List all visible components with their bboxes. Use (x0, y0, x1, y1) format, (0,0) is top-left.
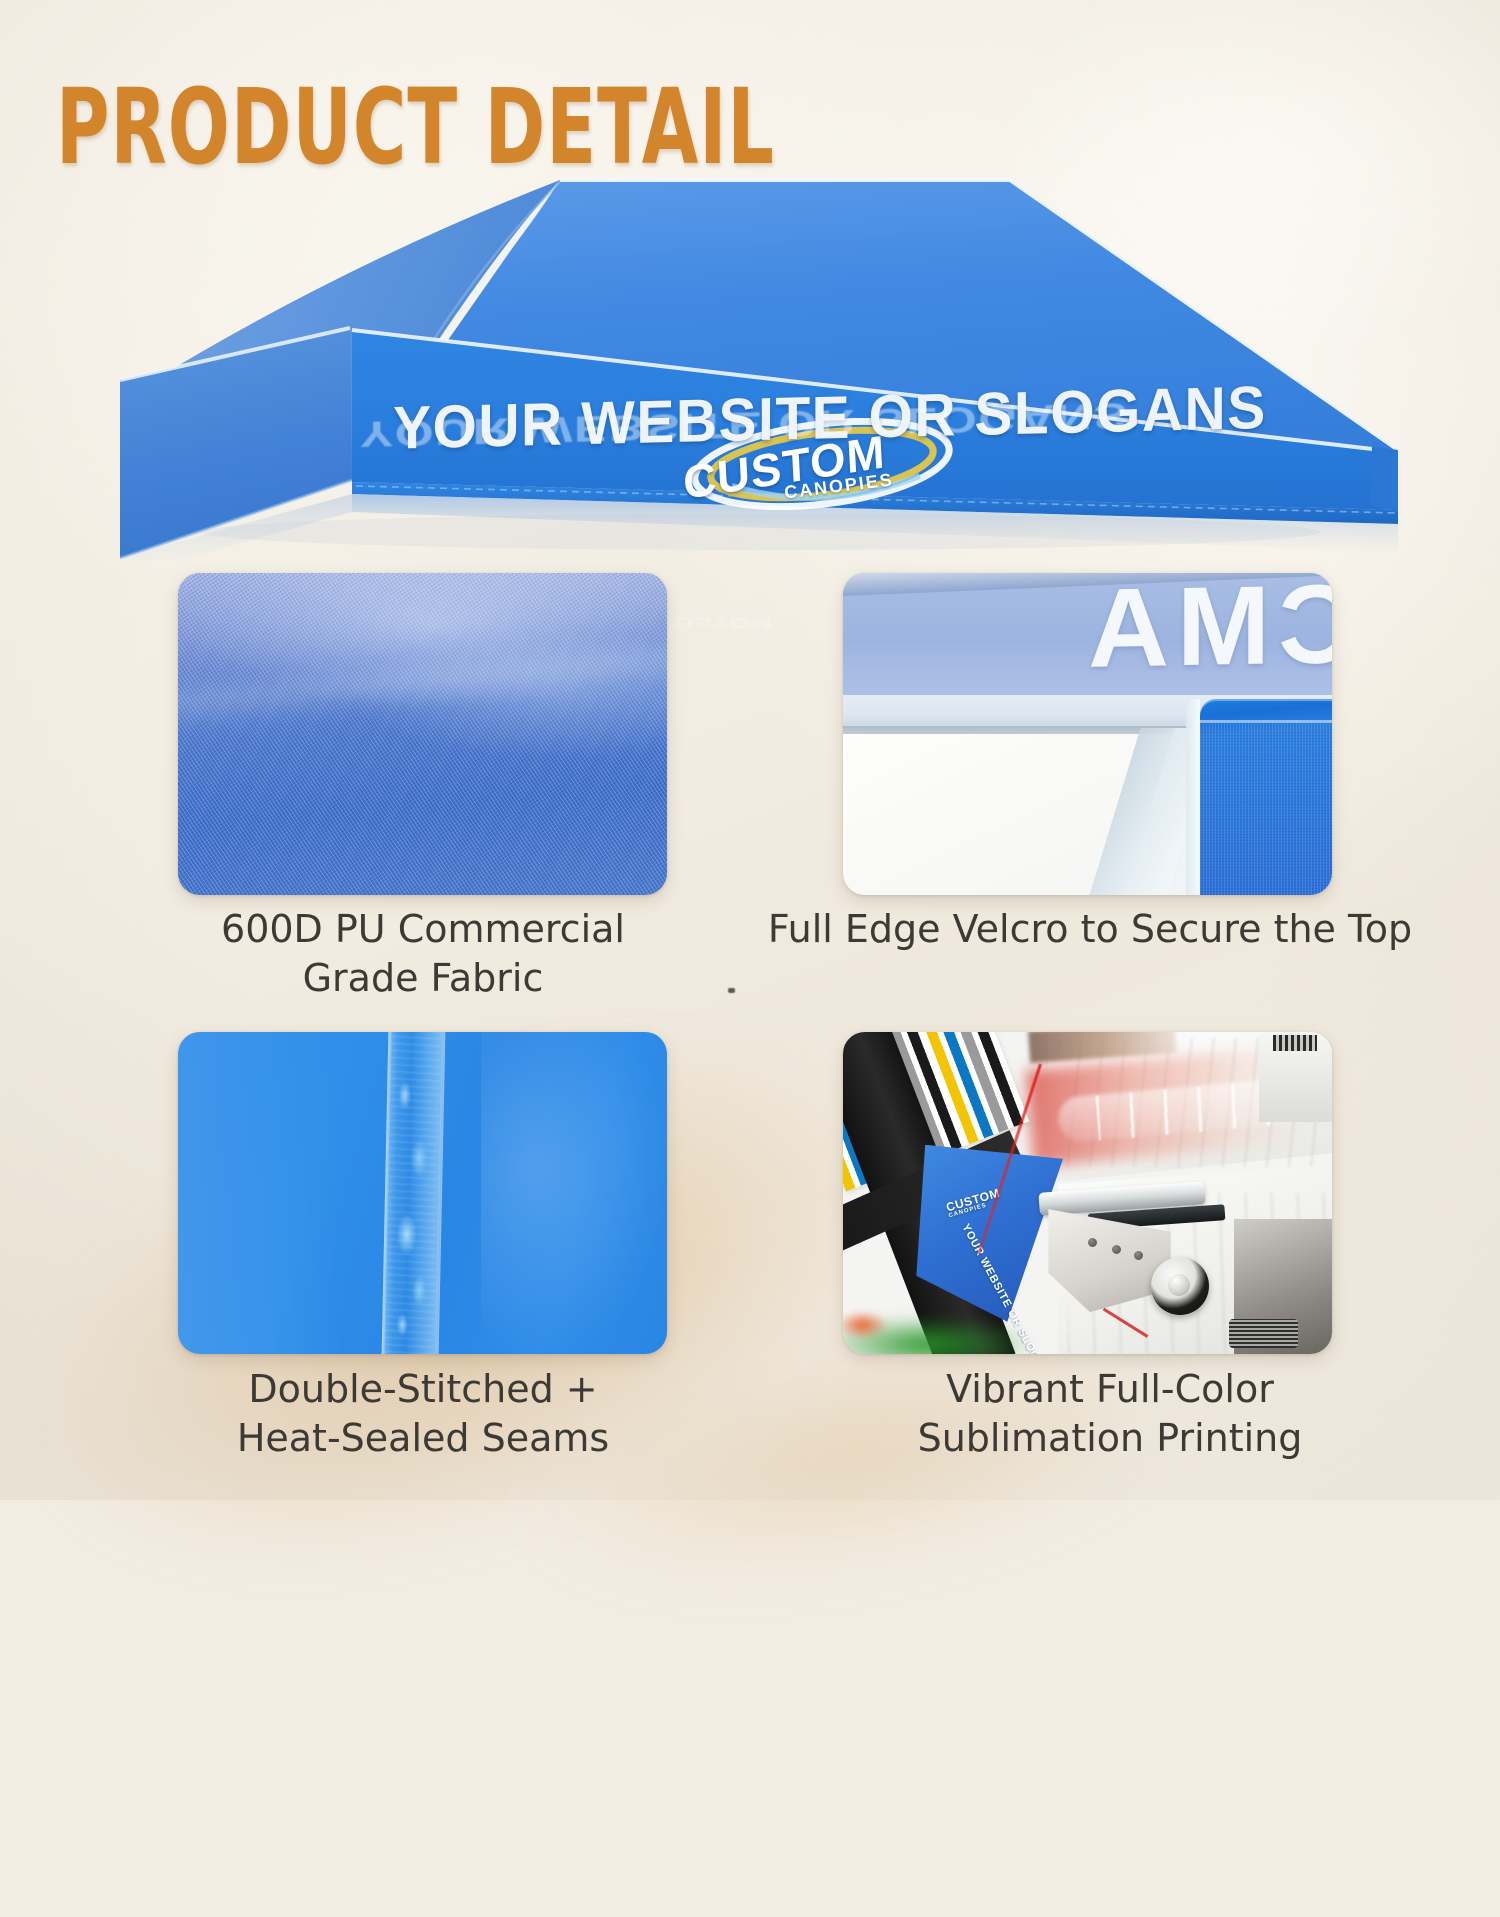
velcro-tab-texture (1200, 723, 1332, 895)
printer-orange-ink-blur (843, 1309, 892, 1341)
feature-image-velcro[interactable]: CMA (843, 573, 1332, 895)
printer-control-chip (1273, 1035, 1317, 1051)
feature-image-seams[interactable] (178, 1032, 667, 1354)
feature-caption-fabric: 600D PU Commercial Grade Fabric (128, 905, 718, 1004)
feature-caption-fabric-line1: 600D PU Commercial (128, 905, 718, 954)
feature-caption-printing-line2: Sublimation Printing (810, 1414, 1410, 1463)
feature-caption-printing-line1: Vibrant Full-Color (810, 1365, 1410, 1414)
velcro-tab-edge (1186, 699, 1200, 895)
fabric-sheen (178, 573, 667, 895)
feature-image-fabric[interactable] (178, 573, 667, 895)
feature-image-printing[interactable]: CUSTOM CANOPIES YOUR WEBSITE OR SLOG (843, 1032, 1332, 1354)
printer-bolt-2 (1112, 1245, 1121, 1254)
printer-bolt-1 (1088, 1238, 1097, 1247)
velcro-tab-stitch (1200, 720, 1332, 723)
feature-caption-seams-line2: Heat-Sealed Seams (128, 1414, 718, 1463)
feature-grid: 600D PU Commercial Grade Fabric CMA Full… (0, 0, 1500, 1500)
printer-bolt-3 (1134, 1251, 1143, 1260)
printer-wheel-hub (1168, 1274, 1190, 1296)
feature-caption-seams: Double-Stitched + Heat-Sealed Seams (128, 1365, 718, 1464)
velcro-mirrored-lettering: CMA (843, 573, 1332, 697)
seam-left-sheen (178, 1032, 383, 1354)
feature-caption-seams-line1: Double-Stitched + (128, 1365, 718, 1414)
feature-caption-fabric-line2: Grade Fabric (128, 954, 718, 1003)
image-speck-artifact (728, 988, 735, 993)
seam-right-sheen (481, 1032, 667, 1354)
feature-caption-velcro: Full Edge Velcro to Secure the Top (740, 905, 1440, 954)
seam-strip-texture (385, 1032, 441, 1354)
feature-caption-velcro-line1: Full Edge Velcro to Secure the Top (740, 905, 1440, 954)
printer-vent-grill (1229, 1319, 1297, 1348)
feature-caption-printing: Vibrant Full-Color Sublimation Printing (810, 1365, 1410, 1464)
